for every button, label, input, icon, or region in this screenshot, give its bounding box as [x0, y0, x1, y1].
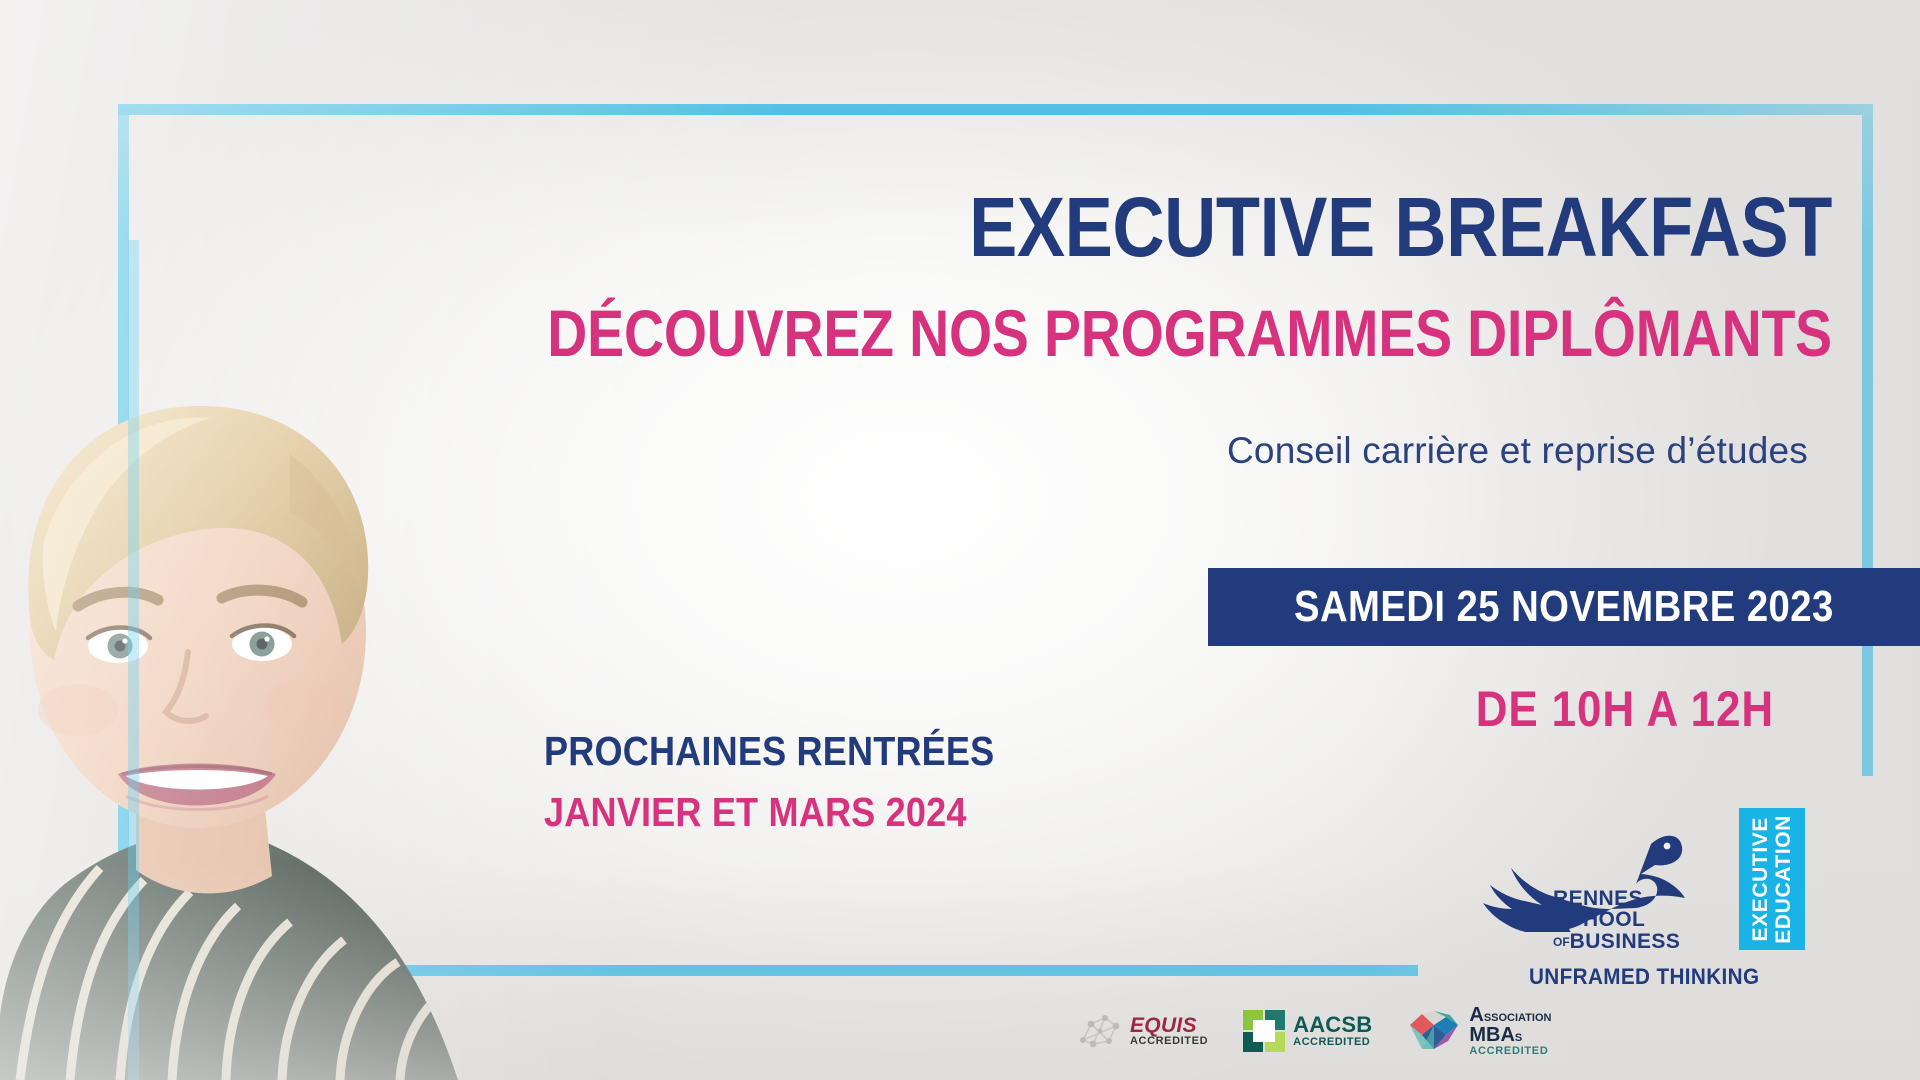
amba-association: SSOCIATION [1484, 1012, 1552, 1024]
amba-mba-text: MBA [1469, 1024, 1515, 1046]
woman-portrait-photo [0, 240, 600, 1080]
aacsb-name: AACSB [1293, 1014, 1372, 1036]
amba-diamond-icon [1406, 1009, 1462, 1053]
date-banner-text: SAMEDI 25 NOVEMBRE 2023 [1294, 582, 1834, 632]
equis-sub: ACCREDITED [1130, 1036, 1208, 1047]
next-intakes-block: PROCHAINES RENTRÉES JANVIER ET MARS 2024 [544, 728, 1056, 836]
aacsb-squares-icon [1242, 1009, 1286, 1053]
page-tagline: Conseil carrière et reprise d’études [0, 432, 1808, 469]
amba-text: ASSOCIATION MBAS ACCREDITED [1469, 1005, 1551, 1057]
aacsb-sub: ACCREDITED [1293, 1037, 1372, 1048]
amba-name: ASSOCIATION [1469, 1005, 1551, 1025]
rennes-school-logo: RENNES SCHOOL OFBUSINESS UNFRAMED THINKI… [1455, 812, 1805, 1012]
logo-of: OF [1553, 935, 1570, 949]
date-banner: SAMEDI 25 NOVEMBRE 2023 [1208, 568, 1920, 646]
executive-education-badge: EXECUTIVE EDUCATION [1739, 808, 1805, 950]
accreditation-equis: EQUIS ACCREDITED [1075, 1010, 1208, 1052]
amba-a: A [1469, 1004, 1483, 1026]
logo-line-business: OFBUSINESS [1553, 931, 1728, 952]
amba-mba: MBAS [1469, 1025, 1551, 1045]
equis-text: EQUIS ACCREDITED [1130, 1015, 1208, 1048]
equis-network-icon [1075, 1010, 1123, 1052]
portrait-illustration [0, 240, 600, 1080]
logo-business: BUSINESS [1570, 930, 1681, 953]
amba-sup: S [1515, 1032, 1522, 1044]
page-title: EXECUTIVE BREAKFAST [256, 186, 1832, 268]
next-intakes-dates: JANVIER ET MARS 2024 [544, 789, 994, 836]
page-subtitle: DÉCOUVREZ NOS PROGRAMMES DIPLÔMANTS [293, 300, 1832, 366]
logo-line-rennes: RENNES [1553, 888, 1728, 909]
logo-wordmark: RENNES SCHOOL OFBUSINESS [1553, 888, 1728, 952]
accreditation-logos: EQUIS ACCREDITED AACSB ACCREDITED [1075, 1005, 1551, 1057]
next-intakes-label: PROCHAINES RENTRÉES [544, 728, 994, 775]
frame-right-bar [1862, 104, 1873, 776]
aacsb-text: AACSB ACCREDITED [1293, 1014, 1372, 1048]
accreditation-aacsb: AACSB ACCREDITED [1242, 1009, 1372, 1053]
exec-edu-word-executive: EXECUTIVE [1750, 817, 1771, 941]
logo-tagline: UNFRAMED THINKING [1529, 964, 1773, 990]
accreditation-amba: ASSOCIATION MBAS ACCREDITED [1406, 1005, 1551, 1057]
promotional-banner: EXECUTIVE BREAKFAST DÉCOUVREZ NOS PROGRA… [0, 0, 1920, 1080]
exec-edu-word-education: EDUCATION [1773, 815, 1794, 944]
amba-sub: ACCREDITED [1469, 1046, 1551, 1057]
equis-name: EQUIS [1130, 1015, 1208, 1036]
logo-line-school: SCHOOL [1553, 909, 1728, 930]
frame-top-bar [118, 104, 1873, 115]
